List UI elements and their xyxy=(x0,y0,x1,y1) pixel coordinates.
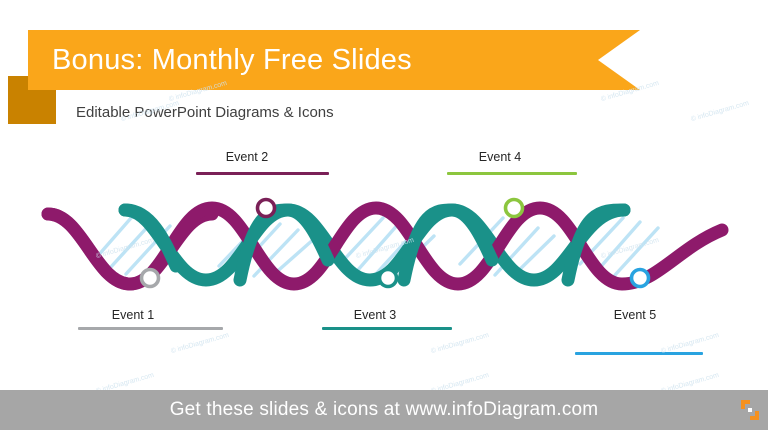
event-markers xyxy=(0,140,768,375)
event-marker-3[interactable] xyxy=(380,270,397,287)
infodiagram-logo-icon xyxy=(738,398,762,422)
event-marker-1[interactable] xyxy=(142,270,159,287)
event-label-1: Event 1 xyxy=(78,308,188,322)
event-rule-2 xyxy=(196,172,329,175)
slide-canvas: Bonus: Monthly Free Slides Editable Powe… xyxy=(0,0,768,432)
event-marker-5[interactable] xyxy=(632,270,649,287)
event-label-2: Event 2 xyxy=(192,150,302,164)
page-subtitle: Editable PowerPoint Diagrams & Icons xyxy=(76,104,334,121)
event-marker-2[interactable] xyxy=(258,200,275,217)
event-rule-5 xyxy=(575,352,703,355)
event-label-3: Event 3 xyxy=(320,308,430,322)
dna-helix-diagram: Event 1Event 2Event 3Event 4Event 5 xyxy=(0,140,768,375)
event-rule-4 xyxy=(447,172,577,175)
event-label-5: Event 5 xyxy=(580,308,690,322)
page-title: Bonus: Monthly Free Slides xyxy=(52,36,612,84)
event-rule-1 xyxy=(78,327,223,330)
footer-link[interactable]: Get these slides & icons at www.infoDiag… xyxy=(0,390,768,430)
watermark-text: © infoDiagram.com xyxy=(690,100,750,123)
event-label-4: Event 4 xyxy=(445,150,555,164)
event-marker-4[interactable] xyxy=(506,200,523,217)
event-rule-3 xyxy=(322,327,452,330)
